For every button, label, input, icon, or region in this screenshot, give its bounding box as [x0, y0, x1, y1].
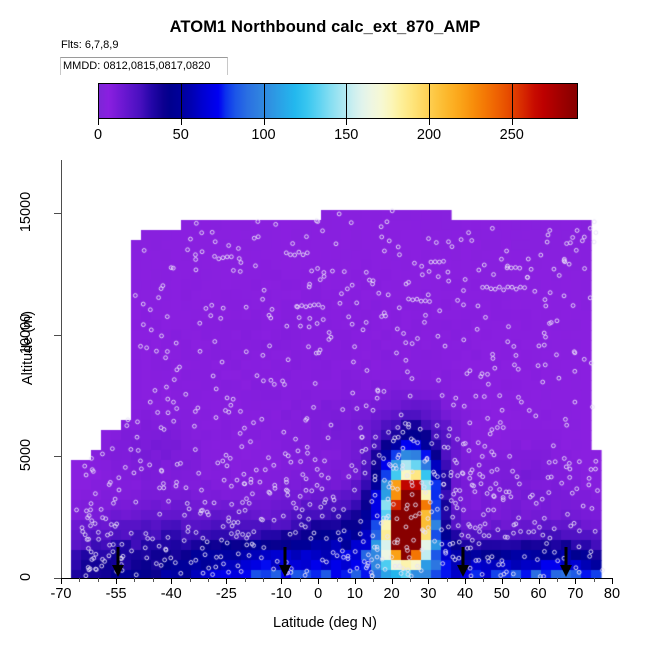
colorbar-tick-label: 100 — [251, 127, 275, 143]
x-axis-minor-tick — [153, 578, 154, 582]
colorbar-tick — [512, 119, 513, 125]
colorbar-tick-label: 250 — [500, 127, 524, 143]
dates-annotation: MMDD: 0812,0815,0817,0820 — [63, 60, 210, 72]
x-axis-tick-label: -10 — [271, 586, 292, 602]
x-axis-minor-tick — [79, 578, 80, 582]
flight-marker-arrow — [278, 547, 292, 583]
colorbar-separator — [512, 83, 513, 119]
x-axis-tick — [428, 578, 429, 584]
x-axis-minor-tick — [447, 578, 448, 582]
flights-annotation: Flts: 6,7,8,9 — [61, 39, 118, 51]
colorbar — [98, 83, 578, 119]
colorbar-gradient — [98, 83, 578, 119]
x-axis-tick — [539, 578, 540, 584]
x-axis-tick-label: 0 — [314, 586, 322, 602]
x-axis-tick — [355, 578, 356, 584]
colorbar-tick-label: 0 — [94, 127, 102, 143]
x-axis-tick — [575, 578, 576, 584]
x-axis-tick-label: -70 — [51, 586, 72, 602]
chart-page: ATOM1 Northbound calc_ext_870_AMP Flts: … — [0, 0, 650, 650]
x-axis-minor-tick — [483, 578, 484, 582]
x-axis-minor-tick — [263, 578, 264, 582]
colorbar-separator — [181, 83, 182, 119]
y-axis-line — [61, 160, 62, 578]
x-axis-minor-tick — [594, 578, 595, 582]
x-axis-tick — [502, 578, 503, 584]
colorbar-tick — [181, 119, 182, 125]
x-axis-tick-label: -40 — [161, 586, 182, 602]
x-axis-minor-tick — [208, 578, 209, 582]
x-axis-minor-tick — [134, 578, 135, 582]
x-axis-minor-tick — [337, 578, 338, 582]
x-axis-tick-label: 50 — [494, 586, 510, 602]
colorbar-tick — [98, 119, 99, 125]
y-axis-tick — [54, 578, 61, 579]
colorbar-separator — [264, 83, 265, 119]
x-axis-tick-label: 70 — [567, 586, 583, 602]
y-axis-tick-label: 10000 — [18, 294, 34, 374]
x-axis-minor-tick — [557, 578, 558, 582]
flight-marker-arrow — [559, 547, 573, 583]
x-axis-tick — [61, 578, 62, 584]
x-axis-tick-label: -55 — [106, 586, 127, 602]
x-axis-label: Latitude (deg N) — [0, 615, 650, 631]
x-axis-tick-label: -25 — [216, 586, 237, 602]
x-axis-minor-tick — [520, 578, 521, 582]
x-axis-tick-label: 60 — [530, 586, 546, 602]
y-axis-tick — [54, 335, 61, 336]
flight-marker-arrow — [456, 547, 470, 583]
y-axis-tick-label: 5000 — [18, 415, 34, 495]
x-axis-minor-tick — [300, 578, 301, 582]
y-axis-tick-label: 15000 — [18, 172, 34, 252]
flight-marker-arrow — [111, 547, 125, 583]
x-axis-minor-tick — [373, 578, 374, 582]
x-axis-tick-label: 20 — [384, 586, 400, 602]
y-axis-tick — [54, 456, 61, 457]
colorbar-tick-label: 200 — [417, 127, 441, 143]
y-axis-tick-label: 0 — [18, 537, 34, 617]
x-axis-tick — [392, 578, 393, 584]
heatmap-canvas — [61, 160, 612, 578]
colorbar-tick — [264, 119, 265, 125]
page-title: ATOM1 Northbound calc_ext_870_AMP — [0, 18, 650, 37]
colorbar-separator — [429, 83, 430, 119]
x-axis-minor-tick — [245, 578, 246, 582]
colorbar-tick-label: 50 — [173, 127, 189, 143]
x-axis-tick — [171, 578, 172, 584]
colorbar-tick — [346, 119, 347, 125]
x-axis-tick-label: 30 — [420, 586, 436, 602]
x-axis-tick — [226, 578, 227, 584]
x-axis-minor-tick — [98, 578, 99, 582]
colorbar-tick-label: 150 — [334, 127, 358, 143]
colorbar-separator — [346, 83, 347, 119]
colorbar-tick — [429, 119, 430, 125]
x-axis-tick-label: 10 — [347, 586, 363, 602]
x-axis-minor-tick — [410, 578, 411, 582]
x-axis-minor-tick — [190, 578, 191, 582]
x-axis-tick-label: 80 — [604, 586, 620, 602]
x-axis-tick — [318, 578, 319, 584]
x-axis-tick — [612, 578, 613, 584]
y-axis-tick — [54, 213, 61, 214]
x-axis-tick-label: 40 — [457, 586, 473, 602]
